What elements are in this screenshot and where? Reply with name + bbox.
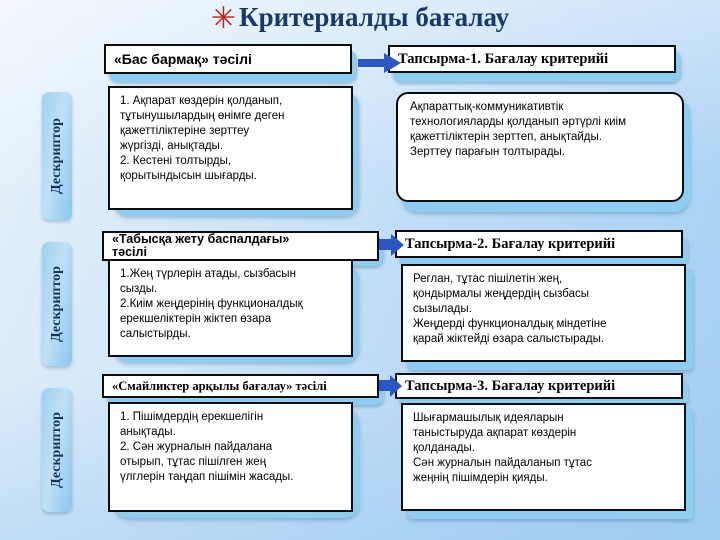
criteria-body-2: Реглан, тұтас пішілетін жең, қондырмалы … — [401, 264, 686, 362]
criteria-header-label: Тапсырма-3. Бағалау критерийі — [397, 378, 623, 395]
criteria-body-3: Шығармашылық идеяларын таныстыруда ақпар… — [401, 403, 686, 511]
asterisk-icon: ✳ — [211, 2, 236, 35]
arrow-right-icon — [379, 374, 403, 398]
descriptor-tab-label: Дескриптор — [49, 118, 65, 194]
criteria-header-2[interactable]: Тапсырма-2. Бағалау критерийі — [395, 230, 683, 258]
method-body-text: 1. Ақпарат көздерін қолданып, тұтынушыла… — [120, 94, 343, 184]
descriptor-tab-1: Дескриптор — [42, 92, 72, 220]
descriptor-tab-2: Дескриптор — [42, 242, 72, 366]
arrow-right-icon — [358, 52, 402, 74]
method-body-1: 1. Ақпарат көздерін қолданып, тұтынушыла… — [108, 86, 353, 210]
method-body-text: 1. Пішімдердің ерекшелігін анықтады. 2. … — [120, 410, 343, 485]
method-header-label: «Табысқа жету баспалдағы» тәсілі — [104, 233, 297, 259]
criteria-body-text: Ақпараттық-коммуникативтік технологиялар… — [410, 100, 672, 160]
method-body-3: 1. Пішімдердің ерекшелігін анықтады. 2. … — [108, 402, 353, 512]
criteria-body-1: Ақпараттық-коммуникативтік технологиялар… — [396, 92, 684, 202]
method-header-1[interactable]: «Бас бармақ» тәсілі — [104, 44, 352, 74]
method-header-label: «Бас бармақ» тәсілі — [106, 51, 260, 67]
method-body-2: 1.Жең түрлерін атады, сызбасын сызды. 2.… — [108, 259, 353, 357]
descriptor-tab-label: Дескриптор — [49, 412, 65, 488]
method-header-2[interactable]: «Табысқа жету баспалдағы» тәсілі — [102, 231, 379, 261]
criteria-header-3[interactable]: Тапсырма-3. Бағалау критерийі — [395, 373, 683, 399]
slide-canvas: ✳Критериалды бағалау Дескриптор Дескрипт… — [0, 0, 720, 540]
arrow-right-icon — [379, 233, 405, 257]
criteria-header-1[interactable]: Тапсырма-1. Бағалау критерийі — [388, 45, 676, 73]
criteria-body-text: Реглан, тұтас пішілетін жең, қондырмалы … — [413, 272, 676, 347]
criteria-header-label: Тапсырма-1. Бағалау критерийі — [390, 51, 616, 68]
criteria-header-label: Тапсырма-2. Бағалау критерийі — [397, 236, 623, 253]
descriptor-tab-3: Дескриптор — [42, 388, 72, 512]
method-header-3[interactable]: «Смайликтер арқылы бағалау» тәсілі — [102, 374, 379, 398]
page-title: ✳Критериалды бағалау — [0, 2, 720, 33]
criteria-body-text: Шығармашылық идеяларын таныстыруда ақпар… — [413, 411, 676, 486]
page-title-text: Критериалды бағалау — [239, 2, 509, 32]
descriptor-tab-label: Дескриптор — [49, 266, 65, 342]
method-body-text: 1.Жең түрлерін атады, сызбасын сызды. 2.… — [120, 267, 343, 342]
method-header-label: «Смайликтер арқылы бағалау» тәсілі — [104, 379, 335, 394]
